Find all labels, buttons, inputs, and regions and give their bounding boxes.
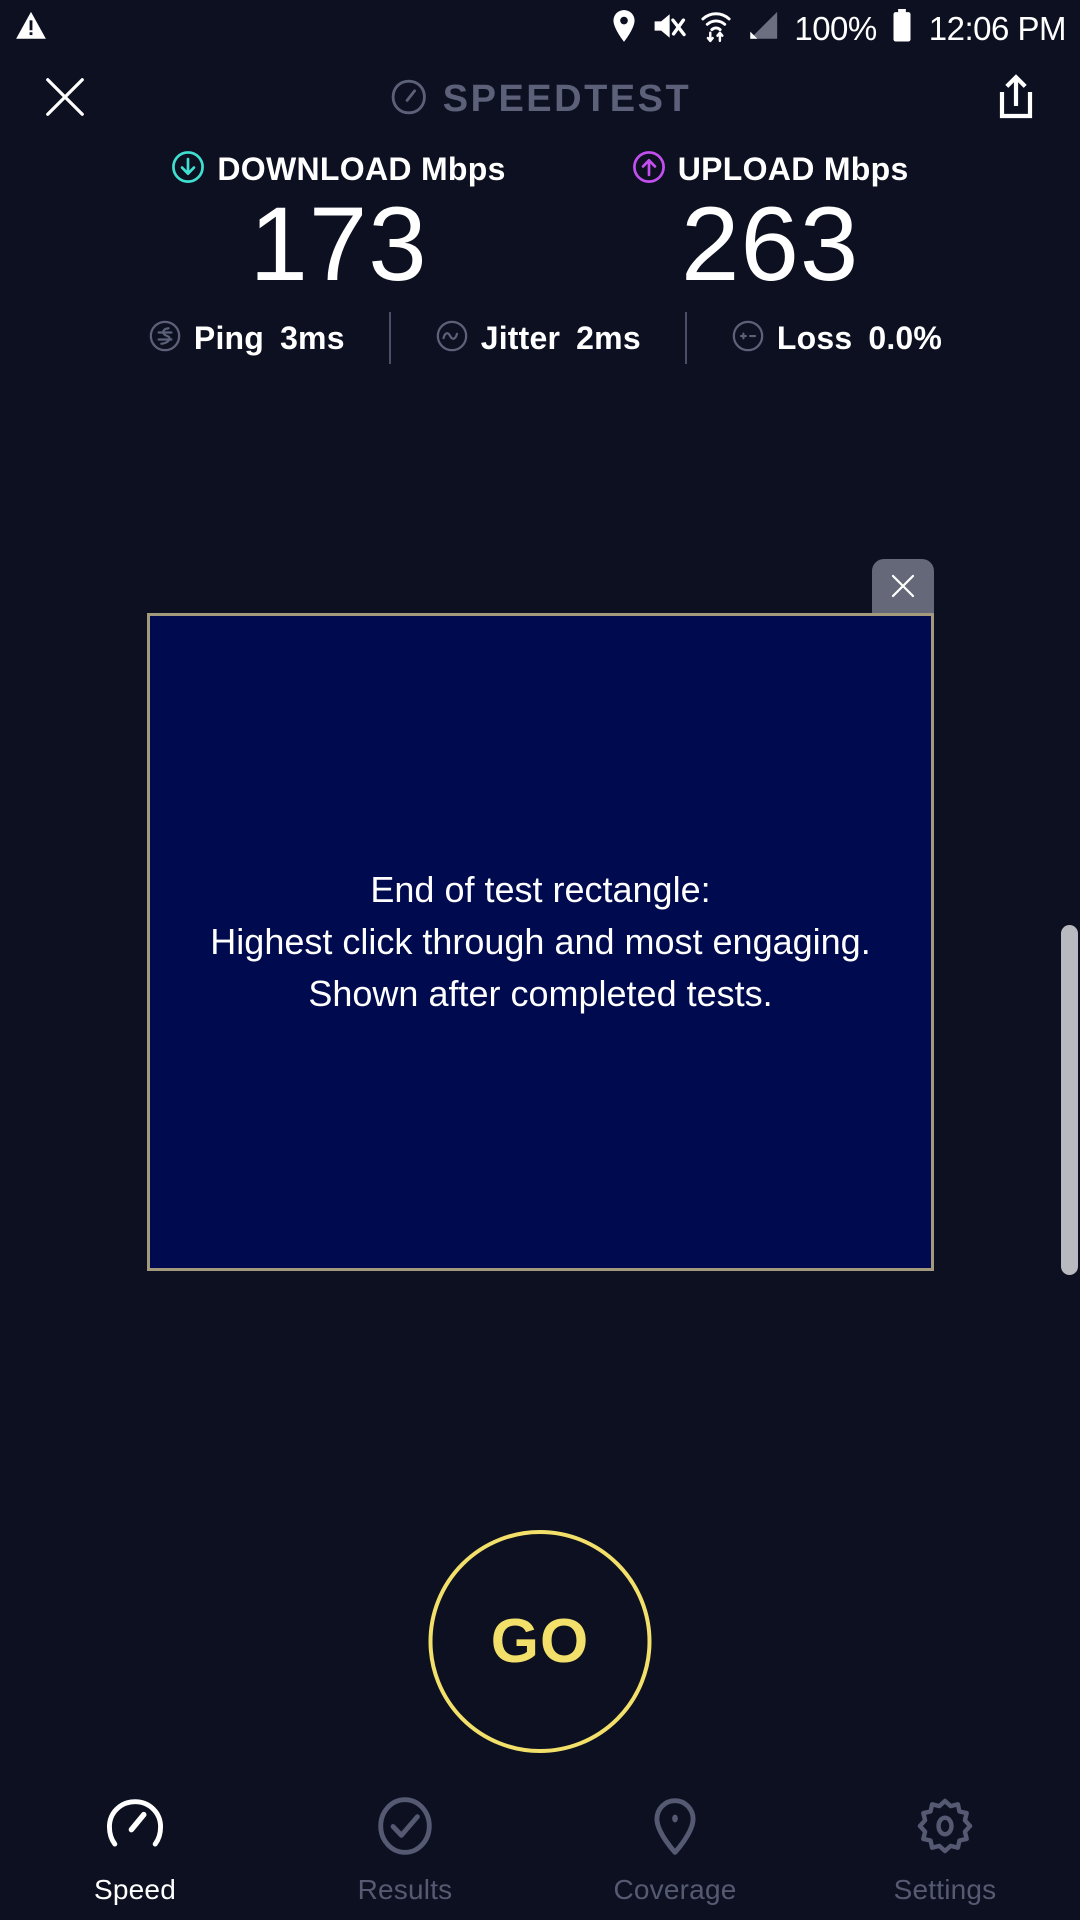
check-circle-icon <box>374 1795 436 1862</box>
loss-stat: Loss 0.0% <box>731 319 942 358</box>
ping-value: 3ms <box>280 320 345 357</box>
battery-percent-label: 100% <box>794 12 876 45</box>
share-icon <box>994 73 1038 121</box>
close-button[interactable] <box>42 74 88 125</box>
stat-divider-2 <box>685 312 687 364</box>
go-button-label: GO <box>491 1606 589 1677</box>
ad-text: End of test rectangle: Highest click thr… <box>150 864 931 1021</box>
volume-mute-icon <box>652 10 686 47</box>
nav-item-speed[interactable]: Speed <box>0 1795 270 1906</box>
loss-icon <box>731 319 765 358</box>
nav-item-coverage[interactable]: Coverage <box>540 1795 810 1906</box>
upload-label: UPLOAD Mbps <box>678 151 909 188</box>
gear-icon <box>914 1795 976 1862</box>
jitter-icon <box>435 319 469 358</box>
ad-line-3: Shown after completed tests. <box>160 968 921 1020</box>
cell-signal-icon <box>746 10 780 47</box>
share-button[interactable] <box>994 73 1038 126</box>
nav-label-speed: Speed <box>94 1874 176 1906</box>
jitter-stat: Jitter 2ms <box>435 319 641 358</box>
go-button[interactable]: GO <box>429 1530 652 1753</box>
close-icon <box>888 571 918 601</box>
upload-metric: UPLOAD Mbps 263 <box>632 150 909 298</box>
warning-triangle-icon <box>14 9 48 48</box>
results-panel: DOWNLOAD Mbps 173 UPLOAD Mbps <box>0 142 1080 364</box>
speedometer-icon <box>104 1795 166 1862</box>
location-pin-icon <box>610 9 638 48</box>
download-value: 173 <box>249 191 427 298</box>
nav-item-results[interactable]: Results <box>270 1795 540 1906</box>
location-pin-icon <box>644 1795 706 1862</box>
battery-full-icon <box>891 9 913 48</box>
ad-creative[interactable]: End of test rectangle: Highest click thr… <box>147 613 934 1271</box>
app-title: SPEEDTEST <box>443 78 691 121</box>
nav-label-coverage: Coverage <box>613 1874 736 1906</box>
bottom-navigation: Speed Results Coverage <box>0 1785 1080 1920</box>
status-bar-right: 100% 12:06 PM <box>610 9 1066 48</box>
nav-item-settings[interactable]: Settings <box>810 1795 1080 1906</box>
nav-label-settings: Settings <box>894 1874 997 1906</box>
status-bar: 100% 12:06 PM <box>0 0 1080 56</box>
ad-line-1: End of test rectangle: <box>160 864 921 916</box>
ping-icon <box>148 319 182 358</box>
wifi-icon <box>700 9 732 48</box>
nav-label-results: Results <box>358 1874 453 1906</box>
speedtest-app-screen: 100% 12:06 PM SPEEDTEST <box>0 0 1080 1920</box>
upload-value: 263 <box>681 191 859 298</box>
ad-line-2: Highest click through and most engaging. <box>160 916 921 968</box>
stat-divider-1 <box>389 312 391 364</box>
status-bar-left <box>14 9 48 48</box>
download-header: DOWNLOAD Mbps <box>171 150 505 189</box>
app-bar: SPEEDTEST <box>0 56 1080 142</box>
loss-label: Loss <box>777 320 853 357</box>
ping-label: Ping <box>194 320 264 357</box>
clock-label: 12:06 PM <box>929 12 1066 45</box>
speed-metrics-row: DOWNLOAD Mbps 173 UPLOAD Mbps <box>0 142 1080 298</box>
brand: SPEEDTEST <box>389 77 691 122</box>
advertisement: End of test rectangle: Highest click thr… <box>147 559 934 1271</box>
close-icon <box>42 74 88 120</box>
arrow-up-circle-icon <box>632 150 666 189</box>
download-label: DOWNLOAD Mbps <box>217 151 505 188</box>
jitter-value: 2ms <box>576 320 641 357</box>
jitter-label: Jitter <box>481 320 560 357</box>
speedometer-icon <box>389 77 429 122</box>
connection-stats-row: Ping 3ms Jitter 2ms <box>0 312 1080 364</box>
page-scrollbar[interactable] <box>1061 925 1078 1275</box>
arrow-down-circle-icon <box>171 150 205 189</box>
upload-header: UPLOAD Mbps <box>632 150 909 189</box>
loss-value: 0.0% <box>868 320 942 357</box>
download-metric: DOWNLOAD Mbps 173 <box>171 150 505 298</box>
ad-close-button[interactable] <box>872 559 934 613</box>
ping-stat: Ping 3ms <box>148 319 345 358</box>
